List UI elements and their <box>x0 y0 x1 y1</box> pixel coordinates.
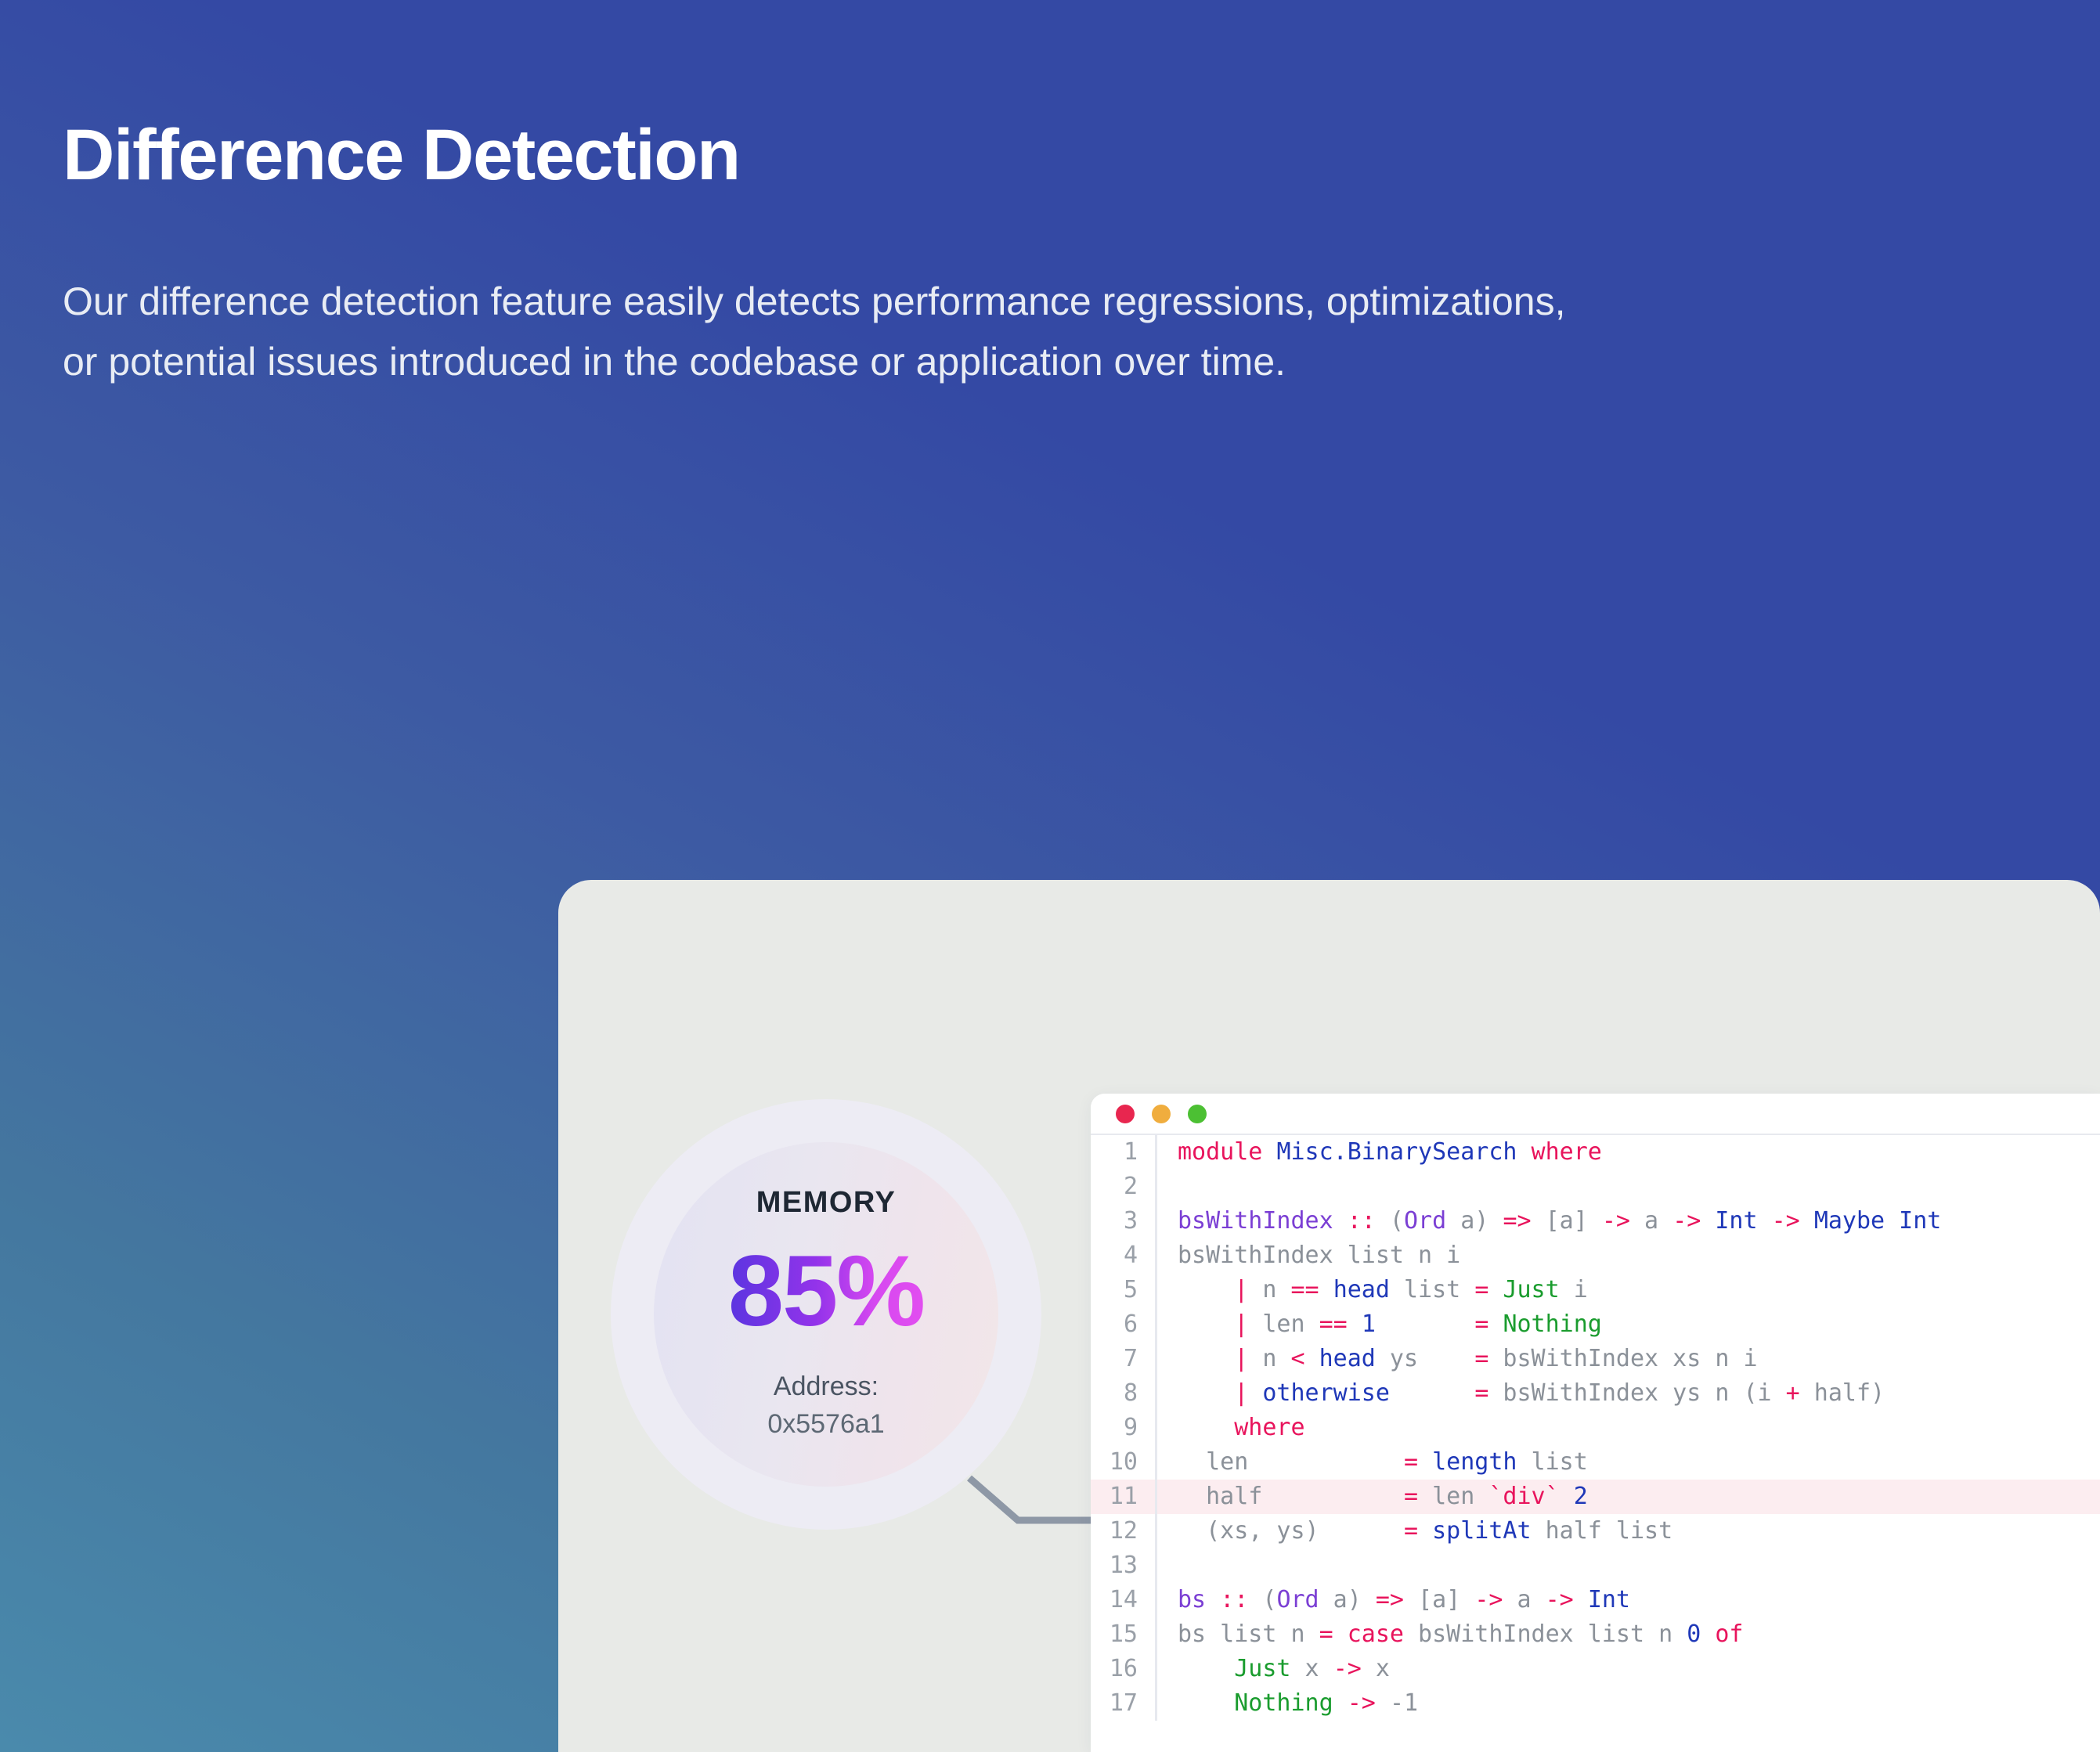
memory-address: Address: 0x5576a1 <box>767 1368 884 1443</box>
code-content: (xs, ys) = splitAt half list <box>1157 1514 1672 1548</box>
code-line: 4 bsWithIndex list n i <box>1091 1238 2100 1273</box>
line-number: 9 <box>1091 1411 1157 1445</box>
code-line: 10 len = length list <box>1091 1445 2100 1480</box>
code-line: 13 <box>1091 1548 2100 1583</box>
minimize-button-icon[interactable] <box>1152 1105 1171 1123</box>
code-line: 2 <box>1091 1170 2100 1204</box>
code-line: 3 bsWithIndex :: (Ord a) => [a] -> a -> … <box>1091 1204 2100 1238</box>
line-number: 1 <box>1091 1135 1157 1170</box>
code-line: 8 | otherwise = bsWithIndex ys n (i + ha… <box>1091 1376 2100 1411</box>
line-number: 3 <box>1091 1204 1157 1238</box>
subtitle-line-1: Our difference detection feature easily … <box>63 272 1887 333</box>
code-editor-titlebar <box>1091 1094 2100 1135</box>
code-line: 7 | n < head ys = bsWithIndex xs n i <box>1091 1342 2100 1376</box>
code-content: half = len `div` 2 <box>1157 1480 1588 1514</box>
line-number: 12 <box>1091 1514 1157 1548</box>
memory-gauge-inner: MEMORY 85% Address: 0x5576a1 <box>654 1142 998 1487</box>
code-content: bsWithIndex :: (Ord a) => [a] -> a -> In… <box>1157 1204 1941 1238</box>
line-number: 5 <box>1091 1273 1157 1307</box>
code-content: where <box>1157 1411 1305 1445</box>
code-line: 6 | len == 1 = Nothing <box>1091 1307 2100 1342</box>
code-content: module Misc.BinarySearch where <box>1157 1135 1602 1170</box>
memory-gauge: MEMORY 85% Address: 0x5576a1 <box>611 1099 1041 1530</box>
code-area[interactable]: 1 module Misc.BinarySearch where 2 3 bsW… <box>1091 1135 2100 1721</box>
subtitle-line-2: or potential issues introduced in the co… <box>63 332 1887 393</box>
code-editor-window: 1 module Misc.BinarySearch where 2 3 bsW… <box>1091 1094 2100 1752</box>
line-number: 2 <box>1091 1170 1157 1204</box>
code-content: Nothing -> -1 <box>1157 1686 1418 1721</box>
line-number: 8 <box>1091 1376 1157 1411</box>
code-content: | len == 1 = Nothing <box>1157 1307 1602 1342</box>
code-line: 9 where <box>1091 1411 2100 1445</box>
line-number: 13 <box>1091 1548 1157 1583</box>
page-title: Difference Detection <box>63 117 1942 193</box>
code-content: bsWithIndex list n i <box>1157 1238 1460 1273</box>
code-content: | n == head list = Just i <box>1157 1273 1588 1307</box>
code-line: 5 | n == head list = Just i <box>1091 1273 2100 1307</box>
memory-address-value: 0x5576a1 <box>767 1406 884 1444</box>
code-content: bs :: (Ord a) => [a] -> a -> Int <box>1157 1583 1630 1617</box>
line-number: 10 <box>1091 1445 1157 1480</box>
code-content: | n < head ys = bsWithIndex xs n i <box>1157 1342 1758 1376</box>
line-number: 16 <box>1091 1652 1157 1686</box>
code-content: Just x -> x <box>1157 1652 1390 1686</box>
line-number: 6 <box>1091 1307 1157 1342</box>
code-line-highlighted: 11 half = len `div` 2 <box>1091 1480 2100 1514</box>
memory-gauge-value: 85% <box>728 1242 924 1342</box>
line-number: 7 <box>1091 1342 1157 1376</box>
code-line: 12 (xs, ys) = splitAt half list <box>1091 1514 2100 1548</box>
code-line: 17 Nothing -> -1 <box>1091 1686 2100 1721</box>
code-line: 14 bs :: (Ord a) => [a] -> a -> Int <box>1091 1583 2100 1617</box>
line-number: 4 <box>1091 1238 1157 1273</box>
memory-gauge-label: MEMORY <box>756 1186 897 1220</box>
code-content: | otherwise = bsWithIndex ys n (i + half… <box>1157 1376 1885 1411</box>
hero-section: Difference Detection Our difference dete… <box>63 117 1942 393</box>
line-number: 17 <box>1091 1686 1157 1721</box>
line-number: 14 <box>1091 1583 1157 1617</box>
code-line: 15 bs list n = case bsWithIndex list n 0… <box>1091 1617 2100 1652</box>
page-subtitle: Our difference detection feature easily … <box>63 272 1887 393</box>
maximize-button-icon[interactable] <box>1188 1105 1207 1123</box>
line-number: 11 <box>1091 1480 1157 1514</box>
code-line: 16 Just x -> x <box>1091 1652 2100 1686</box>
memory-address-label: Address: <box>767 1368 884 1406</box>
code-content: len = length list <box>1157 1445 1588 1480</box>
code-line: 1 module Misc.BinarySearch where <box>1091 1135 2100 1170</box>
code-content: bs list n = case bsWithIndex list n 0 of <box>1157 1617 1743 1652</box>
line-number: 15 <box>1091 1617 1157 1652</box>
close-button-icon[interactable] <box>1116 1105 1135 1123</box>
